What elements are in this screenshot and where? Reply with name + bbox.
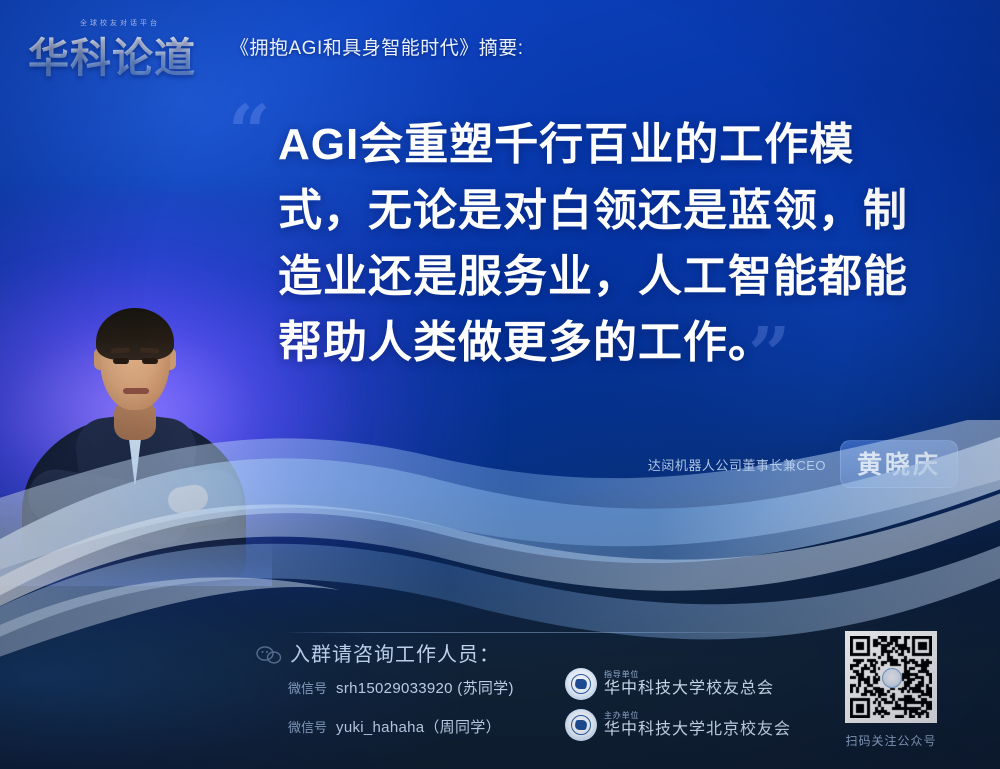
poster-root: 全球校友对话平台 华科论道 《拥抱AGI和具身智能时代》摘要: “ AGI会重塑… [0, 0, 1000, 769]
vignette-overlay [0, 0, 1000, 769]
